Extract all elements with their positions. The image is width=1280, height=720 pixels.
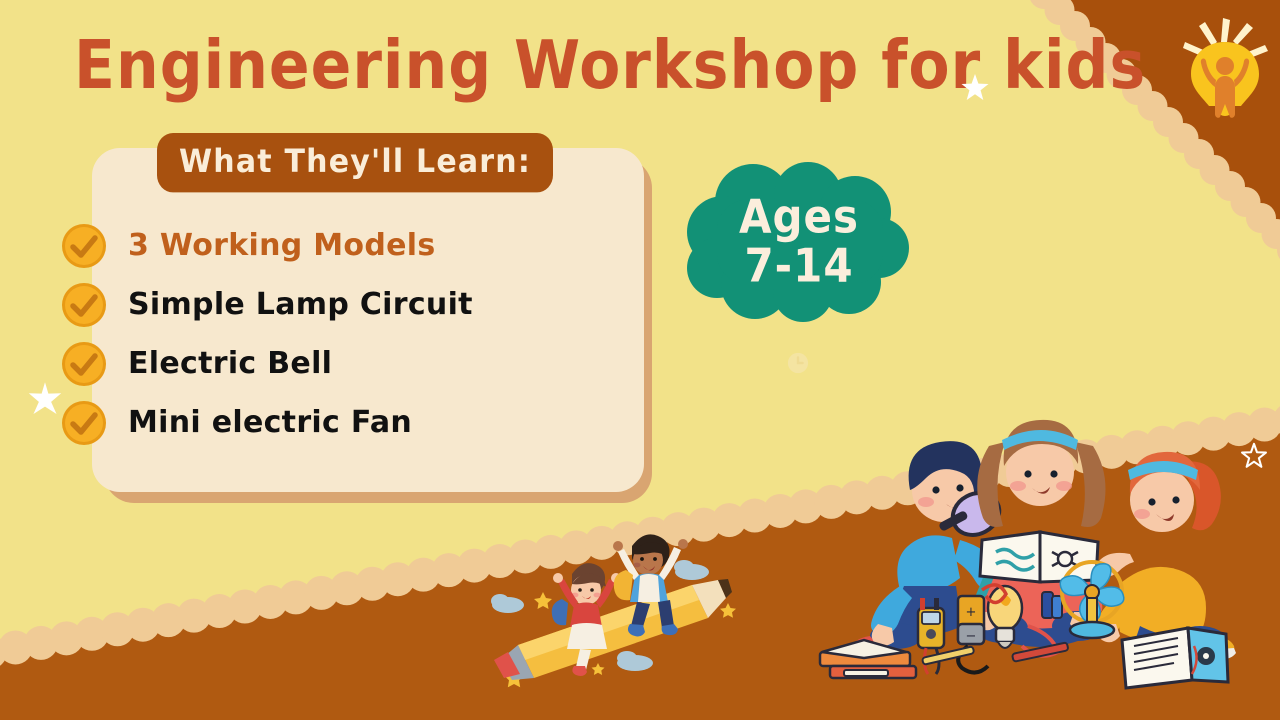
age-badge: Ages 7-14 (683, 160, 915, 322)
check-badge-icon (60, 399, 108, 447)
lightbulb-person-icon[interactable] (1175, 18, 1275, 130)
open-notebook (980, 532, 1098, 582)
list-item[interactable]: 3 Working Models (60, 216, 620, 275)
child-girl-yellow-figure (1096, 452, 1236, 659)
list-item[interactable]: Mini electric Fan (60, 393, 620, 452)
list-item[interactable]: Electric Bell (60, 334, 620, 393)
pencil-shape (494, 579, 732, 680)
check-badge-icon (60, 281, 108, 329)
list-item-label: 3 Working Models (128, 228, 435, 263)
list-item-label: Electric Bell (128, 346, 332, 381)
card-header-pill: What They'll Learn: (157, 133, 553, 192)
list-item[interactable]: Simple Lamp Circuit (60, 275, 620, 334)
list-item-label: Simple Lamp Circuit (128, 287, 473, 322)
open-book-right (1122, 628, 1228, 688)
sparkle-star-icon (960, 73, 990, 103)
cloud-blob-shape (683, 160, 915, 322)
clock-watermark-icon (787, 352, 809, 374)
sparkle-star-icon (27, 381, 63, 417)
list-item-label: Mini electric Fan (128, 405, 412, 440)
svg-text:−: − (966, 629, 977, 644)
battery-cell: + − (958, 596, 984, 644)
learning-list: 3 Working Models Simple Lamp Circuit (60, 216, 620, 452)
poster-canvas: Engineering Workshop for kids What They'… (0, 0, 1280, 720)
capacitor-components (1042, 592, 1062, 618)
kids-on-flying-pencil-illustration (480, 500, 780, 700)
svg-text:+: + (966, 605, 977, 620)
check-badge-icon (60, 340, 108, 388)
check-badge-icon (60, 222, 108, 270)
kids-electronics-experiment-illustration: + − (800, 390, 1280, 720)
